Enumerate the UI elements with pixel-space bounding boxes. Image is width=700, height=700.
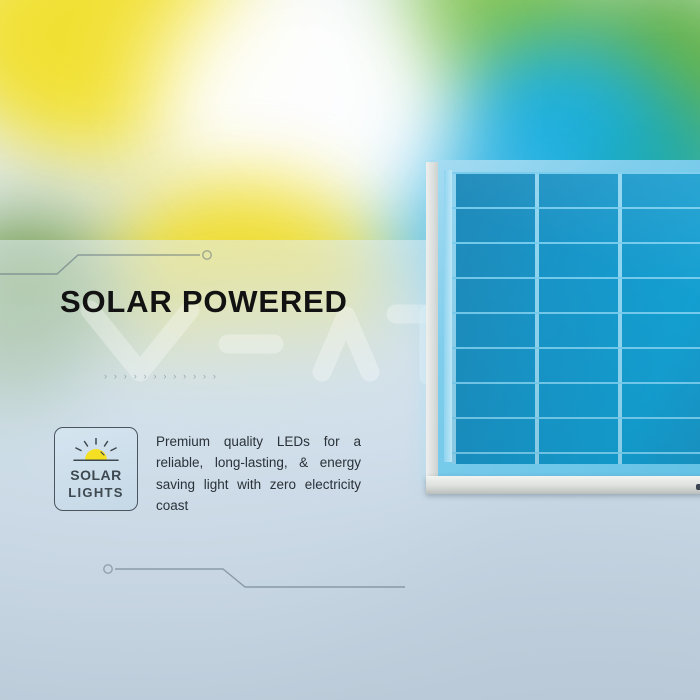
solar-panel bbox=[430, 160, 700, 478]
decor-chevrons: › › › › › › › › › › › › bbox=[104, 371, 218, 381]
feature-description: Premium quality LEDs for a reliable, lon… bbox=[156, 427, 361, 516]
badge-label-solar: SOLAR bbox=[70, 467, 122, 484]
panel-rail bbox=[444, 170, 452, 462]
banner-canvas: › › › › › › › › › › › › SOLAR POWERED SO… bbox=[0, 0, 700, 700]
page-title: SOLAR POWERED bbox=[60, 284, 348, 320]
feature-block: SOLAR LIGHTS Premium quality LEDs for a … bbox=[54, 427, 361, 516]
panel-connector bbox=[696, 484, 700, 490]
panel-cell-shading bbox=[452, 172, 700, 464]
badge-label-lights: LIGHTS bbox=[68, 485, 123, 500]
solar-lights-badge: SOLAR LIGHTS bbox=[54, 427, 138, 511]
panel-frame bbox=[430, 160, 700, 478]
panel-cell-area bbox=[452, 172, 700, 464]
panel-aluminium-base bbox=[426, 476, 700, 494]
sun-icon bbox=[68, 438, 124, 464]
panel-aluminium-edge bbox=[426, 162, 438, 494]
